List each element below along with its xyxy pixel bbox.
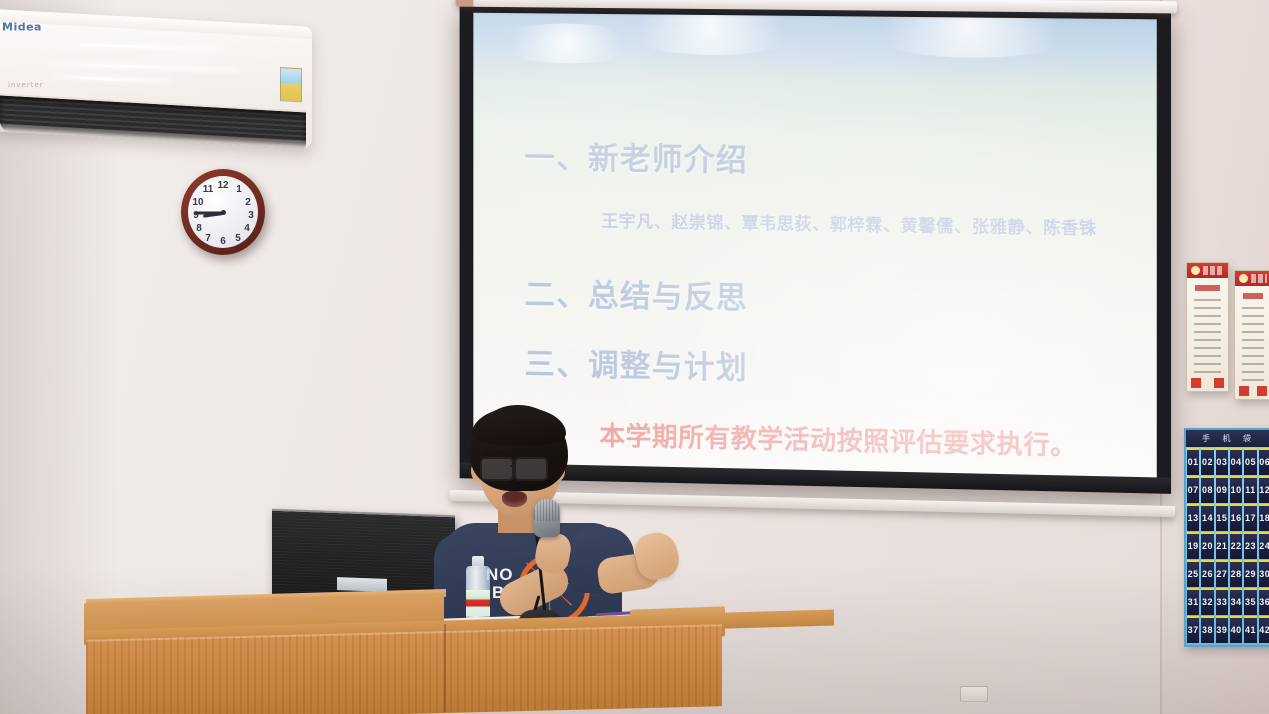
pocket-chart-cell: 30 <box>1259 560 1269 587</box>
wall-poster-left <box>1186 262 1229 392</box>
pocket-chart-cell: 42 <box>1259 616 1269 643</box>
air-conditioner: Midea inverter <box>0 9 312 149</box>
pocket-chart-cell: 10 <box>1230 476 1242 503</box>
pocket-chart-cell: 32 <box>1201 588 1213 615</box>
pocket-chart-cell: 03 <box>1216 448 1228 475</box>
pocket-chart-cell: 05 <box>1244 448 1256 475</box>
wall-clock: 12 1 2 3 4 5 6 7 8 9 10 11 <box>181 169 265 255</box>
pocket-chart-cell: 06 <box>1259 448 1269 475</box>
pocket-chart-cell: 23 <box>1244 532 1256 559</box>
pocket-chart-cell: 37 <box>1187 616 1199 643</box>
poster-header-band <box>1235 271 1269 286</box>
pocket-chart-cell: 31 <box>1187 588 1199 615</box>
pocket-chart-cell: 18 <box>1259 504 1269 531</box>
slide-names-list: 王宇凡、赵崇锦、覃韦思荻、郭梓霖、黄馨儒、张雅静、陈香铢 <box>601 207 1097 239</box>
poster-body-text <box>1194 299 1221 375</box>
clock-numeral: 3 <box>244 210 258 222</box>
pocket-chart-cell: 20 <box>1201 532 1213 559</box>
pocket-chart-cell: 11 <box>1244 476 1256 503</box>
pocket-chart-cell: 21 <box>1216 532 1228 559</box>
pocket-chart-row: 070809101112 <box>1186 476 1269 503</box>
pocket-chart-header: 手 机 袋 <box>1186 430 1269 447</box>
wall-vent-plate <box>960 686 988 702</box>
podium-front-panel <box>86 624 722 714</box>
monitor-spec-label <box>337 577 387 592</box>
poster-body-text <box>1242 307 1264 383</box>
clock-numeral: 10 <box>191 197 205 209</box>
pocket-chart-cell: 38 <box>1201 616 1213 643</box>
clock-face: 12 1 2 3 4 5 6 7 8 9 10 11 <box>188 176 258 248</box>
pocket-chart-row: 373839404142 <box>1186 616 1269 643</box>
clock-numeral: 8 <box>192 223 206 235</box>
poster-header-band <box>1187 263 1228 278</box>
poster-footer-mark-left <box>1191 378 1201 388</box>
pocket-chart-cell: 36 <box>1259 588 1269 615</box>
clock-numeral: 1 <box>232 184 246 196</box>
pocket-chart-cell: 04 <box>1230 448 1242 475</box>
pocket-chart-row: 313233343536 <box>1186 588 1269 615</box>
pocket-chart-cell: 19 <box>1187 532 1199 559</box>
pocket-chart-row: 192021222324 <box>1186 532 1269 559</box>
air-conditioner-energy-sticker <box>280 67 302 102</box>
pocket-chart-row: 131415161718 <box>1186 504 1269 531</box>
presenter-mouth <box>502 491 527 507</box>
slide-heading-1: 一、新老师介绍 <box>524 132 747 180</box>
pocket-chart-cell: 07 <box>1187 476 1199 503</box>
presenter-glasses-left-lens <box>480 457 514 481</box>
pocket-chart-cell: 09 <box>1216 476 1228 503</box>
pocket-chart-row: 010203040506 <box>1186 448 1269 475</box>
podium-panel-seam <box>444 624 446 712</box>
pocket-chart-cell: 40 <box>1230 616 1242 643</box>
presenter-hair-fringe <box>472 407 566 445</box>
pocket-chart-cell: 17 <box>1244 504 1256 531</box>
poster-footer-mark-right <box>1257 386 1267 396</box>
pocket-chart-cell: 15 <box>1216 504 1228 531</box>
pocket-chart-cell: 16 <box>1230 504 1242 531</box>
pocket-chart-cell: 13 <box>1187 504 1199 531</box>
clock-center-pin <box>221 210 226 215</box>
poster-header-text <box>1251 274 1267 283</box>
phone-pocket-chart: 手 机 袋 0102030405060708091011121314151617… <box>1184 428 1269 647</box>
slide-heading-2: 二、总结与反思 <box>524 269 747 318</box>
poster-footer-mark-left <box>1239 386 1249 396</box>
clock-numeral: 12 <box>216 180 230 192</box>
pocket-chart-cell: 14 <box>1201 504 1213 531</box>
clock-numeral: 2 <box>241 197 255 209</box>
pocket-chart-cell: 35 <box>1244 588 1256 615</box>
pocket-chart-cell: 28 <box>1230 560 1242 587</box>
slide-cloud-3 <box>493 23 641 64</box>
air-conditioner-sub-label: inverter <box>8 81 44 89</box>
microphone-mesh-head <box>534 499 560 521</box>
presenter-glasses-right-lens <box>514 457 548 481</box>
pocket-chart-rows: 0102030405060708091011121314151617181920… <box>1186 448 1269 643</box>
wall-poster-right <box>1234 270 1269 400</box>
clock-minute-hand <box>195 212 223 215</box>
screen-roller-end-cap <box>456 0 474 7</box>
pocket-chart-cell: 34 <box>1230 588 1242 615</box>
clock-numeral: 5 <box>231 233 245 245</box>
pocket-chart-cell: 22 <box>1230 532 1242 559</box>
teacher-podium <box>86 598 722 714</box>
pocket-chart-cell: 26 <box>1201 560 1213 587</box>
poster-emblem-icon <box>1191 266 1200 275</box>
poster-title-bar <box>1195 285 1220 291</box>
poster-header-text <box>1203 266 1224 275</box>
clock-numeral: 11 <box>201 184 215 196</box>
pocket-chart-cell: 33 <box>1216 588 1228 615</box>
pocket-chart-cell: 29 <box>1244 560 1256 587</box>
slide-cloud-2 <box>850 13 1092 59</box>
poster-title-bar <box>1243 293 1263 299</box>
poster-footer-mark-right <box>1214 378 1224 388</box>
pocket-chart-cell: 24 <box>1259 532 1269 559</box>
podium-wood-grain <box>86 624 722 714</box>
pocket-chart-cell: 02 <box>1201 448 1213 475</box>
slide-heading-3: 三、调整与计划 <box>524 339 747 388</box>
slide-cloud-1 <box>611 13 810 56</box>
clock-numeral: 6 <box>216 236 230 248</box>
pocket-chart-cell: 39 <box>1216 616 1228 643</box>
pocket-chart-cell: 41 <box>1244 616 1256 643</box>
pocket-chart-cell: 27 <box>1216 560 1228 587</box>
presenter-glasses-bridge <box>510 465 515 467</box>
pocket-chart-cell: 25 <box>1187 560 1199 587</box>
classroom-photo-scene: Midea inverter 12 1 2 3 4 5 6 7 8 9 10 1… <box>0 0 1269 714</box>
pocket-chart-cell: 08 <box>1201 476 1213 503</box>
pocket-chart-row: 252627282930 <box>1186 560 1269 587</box>
poster-emblem-icon <box>1239 274 1248 283</box>
pocket-chart-cell: 12 <box>1259 476 1269 503</box>
air-conditioner-brand-logo: Midea <box>2 21 42 34</box>
pocket-chart-cell: 01 <box>1187 448 1199 475</box>
